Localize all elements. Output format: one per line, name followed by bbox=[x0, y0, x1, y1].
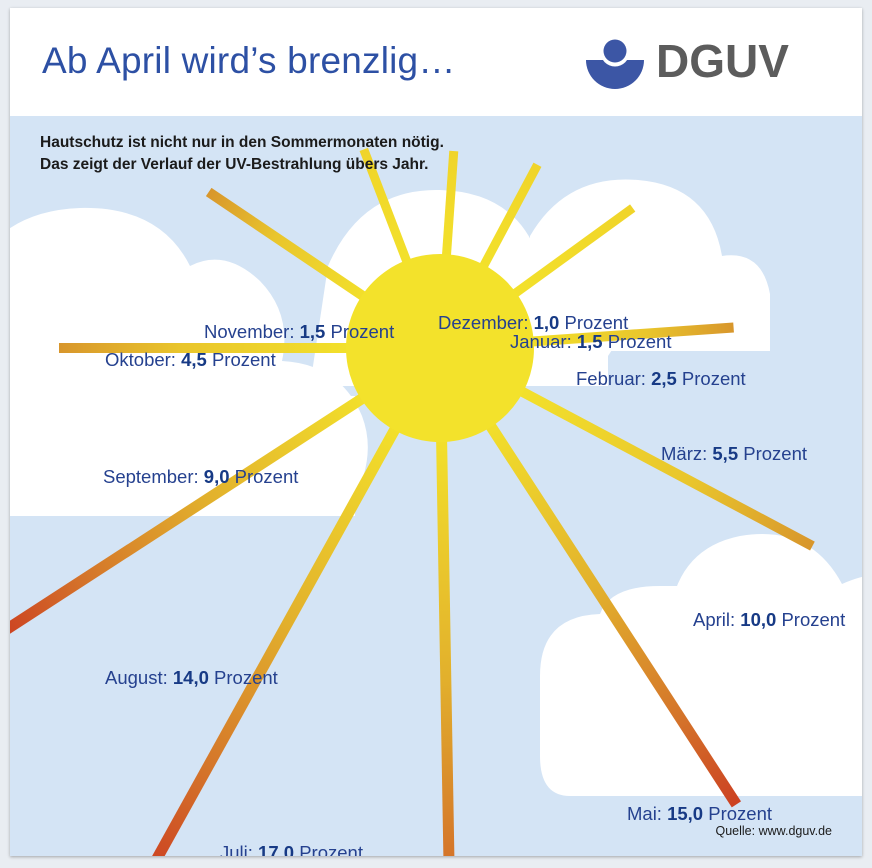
month-unit: Prozent bbox=[207, 349, 276, 370]
month-label-november: November: 1,5 Prozent bbox=[204, 321, 394, 343]
month-name: Mai: bbox=[627, 803, 667, 824]
month-name: November: bbox=[204, 321, 300, 342]
header-band: Ab April wird’s brenzlig… DGUV bbox=[10, 8, 862, 116]
month-unit: Prozent bbox=[603, 331, 672, 352]
dguv-logo: DGUV bbox=[584, 32, 834, 94]
month-value: 15,0 bbox=[667, 803, 703, 824]
month-value: 10,0 bbox=[740, 609, 776, 630]
subtitle-line-2: Das zeigt der Verlauf der UV-Bestrahlung… bbox=[40, 154, 444, 176]
month-value: 5,5 bbox=[712, 443, 738, 464]
month-label-juli: Juli: 17,0 Prozent bbox=[220, 842, 363, 856]
month-name: Juli: bbox=[220, 842, 258, 856]
month-unit: Prozent bbox=[559, 312, 628, 333]
month-label-september: September: 9,0 Prozent bbox=[103, 466, 298, 488]
month-label-dezember: Dezember: 1,0 Prozent bbox=[438, 312, 628, 334]
month-name: Januar: bbox=[510, 331, 577, 352]
month-value: 4,5 bbox=[181, 349, 207, 370]
month-value: 1,5 bbox=[300, 321, 326, 342]
sun-disc bbox=[346, 254, 534, 442]
month-value: 1,0 bbox=[534, 312, 560, 333]
month-value: 2,5 bbox=[651, 368, 677, 389]
month-label-märz: März: 5,5 Prozent bbox=[661, 443, 807, 465]
cloud-left-slab bbox=[10, 396, 355, 516]
month-label-januar: Januar: 1,5 Prozent bbox=[510, 331, 671, 353]
month-name: September: bbox=[103, 466, 204, 487]
month-label-oktober: Oktober: 4,5 Prozent bbox=[105, 349, 276, 371]
month-unit: Prozent bbox=[703, 803, 772, 824]
month-unit: Prozent bbox=[209, 667, 278, 688]
month-unit: Prozent bbox=[738, 443, 807, 464]
month-name: Oktober: bbox=[105, 349, 181, 370]
month-unit: Prozent bbox=[325, 321, 394, 342]
page-title: Ab April wird’s brenzlig… bbox=[42, 40, 456, 82]
subtitle-line-1: Hautschutz ist nicht nur in den Sommermo… bbox=[40, 132, 444, 154]
logo-wordmark: DGUV bbox=[656, 34, 789, 88]
month-value: 1,5 bbox=[577, 331, 603, 352]
chart-canvas: Hautschutz ist nicht nur in den Sommermo… bbox=[10, 116, 862, 856]
month-value: 17,0 bbox=[258, 842, 294, 856]
ray-juni bbox=[441, 428, 451, 856]
month-unit: Prozent bbox=[230, 466, 299, 487]
month-label-februar: Februar: 2,5 Prozent bbox=[576, 368, 746, 390]
month-label-august: August: 14,0 Prozent bbox=[105, 667, 278, 689]
month-name: Dezember: bbox=[438, 312, 534, 333]
source-note: Quelle: www.dguv.de bbox=[716, 824, 833, 838]
month-unit: Prozent bbox=[776, 609, 845, 630]
month-name: August: bbox=[105, 667, 173, 688]
month-unit: Prozent bbox=[677, 368, 746, 389]
month-value: 14,0 bbox=[173, 667, 209, 688]
month-value: 9,0 bbox=[204, 466, 230, 487]
infographic-poster: Ab April wird’s brenzlig… DGUV bbox=[10, 8, 862, 856]
month-name: März: bbox=[661, 443, 712, 464]
month-name: Februar: bbox=[576, 368, 651, 389]
month-label-april: April: 10,0 Prozent bbox=[693, 609, 845, 631]
subtitle: Hautschutz ist nicht nur in den Sommermo… bbox=[40, 132, 444, 177]
month-label-mai: Mai: 15,0 Prozent bbox=[627, 803, 772, 825]
dguv-bowl-icon bbox=[584, 36, 646, 92]
month-unit: Prozent bbox=[294, 842, 363, 856]
month-name: April: bbox=[693, 609, 740, 630]
